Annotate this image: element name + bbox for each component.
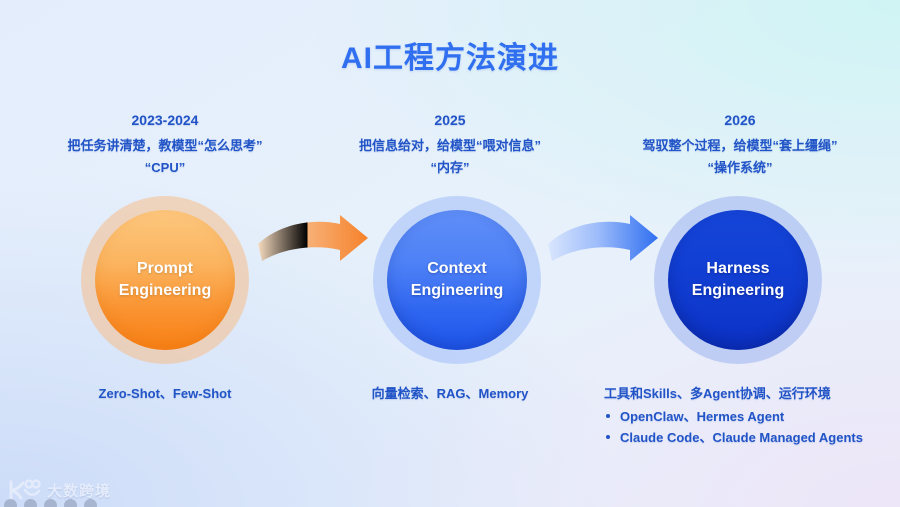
more-icon[interactable] bbox=[64, 499, 77, 507]
stage-label-line1: Prompt bbox=[119, 258, 211, 280]
watermark-text: 大数跨境 bbox=[47, 480, 111, 501]
bullet-dot-icon bbox=[606, 414, 610, 418]
column-description-line2: “内存” bbox=[300, 157, 600, 179]
column-description: 把信息给对，给模型“喂对信息” “内存” bbox=[300, 135, 600, 179]
page-title: AI工程方法演进 bbox=[0, 33, 900, 77]
footer-techniques-harness: 工具和Skills、多Agent协调、运行环境 OpenClaw、Hermes … bbox=[604, 383, 900, 448]
arrow-shape bbox=[258, 215, 368, 261]
column-description-line1: 驾驭整个过程，给模型“套上缰绳” bbox=[642, 138, 837, 153]
stage-circle-harness-engineering: Harness Engineering bbox=[654, 196, 822, 364]
footer-techniques-prompt: Zero-Shot、Few-Shot bbox=[15, 383, 315, 404]
add-icon[interactable] bbox=[84, 499, 97, 507]
column-description: 把任务讲清楚，教模型“怎么思考” “CPU” bbox=[15, 135, 315, 179]
list-item: OpenClaw、Hermes Agent bbox=[604, 406, 900, 427]
column-description: 驾驭整个过程，给模型“套上缰绳” “操作系统” bbox=[590, 135, 890, 179]
column-header-2026: 2026 驾驭整个过程，给模型“套上缰绳” “操作系统” bbox=[590, 110, 890, 179]
stage-label-line2: Engineering bbox=[411, 280, 503, 302]
pen-icon[interactable] bbox=[24, 499, 37, 507]
footer-techniques-context: 向量检索、RAG、Memory bbox=[300, 383, 600, 404]
column-header-2025: 2025 把信息给对，给模型“喂对信息” “内存” bbox=[300, 110, 600, 179]
column-year: 2025 bbox=[300, 110, 600, 130]
watermark: 大数跨境 bbox=[8, 479, 111, 501]
stage-circle-prompt-engineering: Prompt Engineering bbox=[81, 196, 249, 364]
column-year: 2023-2024 bbox=[15, 110, 315, 130]
column-description-line2: “CPU” bbox=[15, 157, 315, 179]
mini-toolbar bbox=[4, 499, 97, 507]
stage-label-line1: Context bbox=[411, 258, 503, 280]
slide-canvas: AI工程方法演进 2023-2024 把任务讲清楚，教模型“怎么思考” “CPU… bbox=[0, 0, 900, 507]
arrow-shape bbox=[548, 215, 658, 261]
column-description-line2: “操作系统” bbox=[590, 157, 890, 179]
stage-circle-label: Context Engineering bbox=[387, 210, 527, 350]
footer-heading: 工具和Skills、多Agent协调、运行环境 bbox=[604, 383, 900, 404]
column-description-line1: 把信息给对，给模型“喂对信息” bbox=[359, 138, 541, 153]
zoom-icon[interactable] bbox=[44, 499, 57, 507]
back-icon[interactable] bbox=[4, 499, 17, 507]
column-year: 2026 bbox=[590, 110, 890, 130]
stage-circle-label: Prompt Engineering bbox=[95, 210, 235, 350]
stage-circle-context-engineering: Context Engineering bbox=[373, 196, 541, 364]
column-description-line1: 把任务讲清楚，教模型“怎么思考” bbox=[67, 138, 262, 153]
arrow-right-orange-icon bbox=[256, 214, 386, 294]
column-header-2023-2024: 2023-2024 把任务讲清楚，教模型“怎么思考” “CPU” bbox=[15, 110, 315, 179]
stage-label-line1: Harness bbox=[692, 258, 784, 280]
stage-circle-label: Harness Engineering bbox=[668, 210, 808, 350]
list-item-label: Claude Code、Claude Managed Agents bbox=[620, 430, 863, 445]
list-item: Claude Code、Claude Managed Agents bbox=[604, 427, 900, 448]
bullet-dot-icon bbox=[606, 435, 610, 439]
arrow-right-blue-icon bbox=[546, 214, 676, 294]
brand-logo-icon bbox=[8, 479, 42, 501]
footer-bullet-list: OpenClaw、Hermes Agent Claude Code、Claude… bbox=[604, 406, 900, 448]
list-item-label: OpenClaw、Hermes Agent bbox=[620, 409, 784, 424]
stage-label-line2: Engineering bbox=[692, 280, 784, 302]
stage-label-line2: Engineering bbox=[119, 280, 211, 302]
